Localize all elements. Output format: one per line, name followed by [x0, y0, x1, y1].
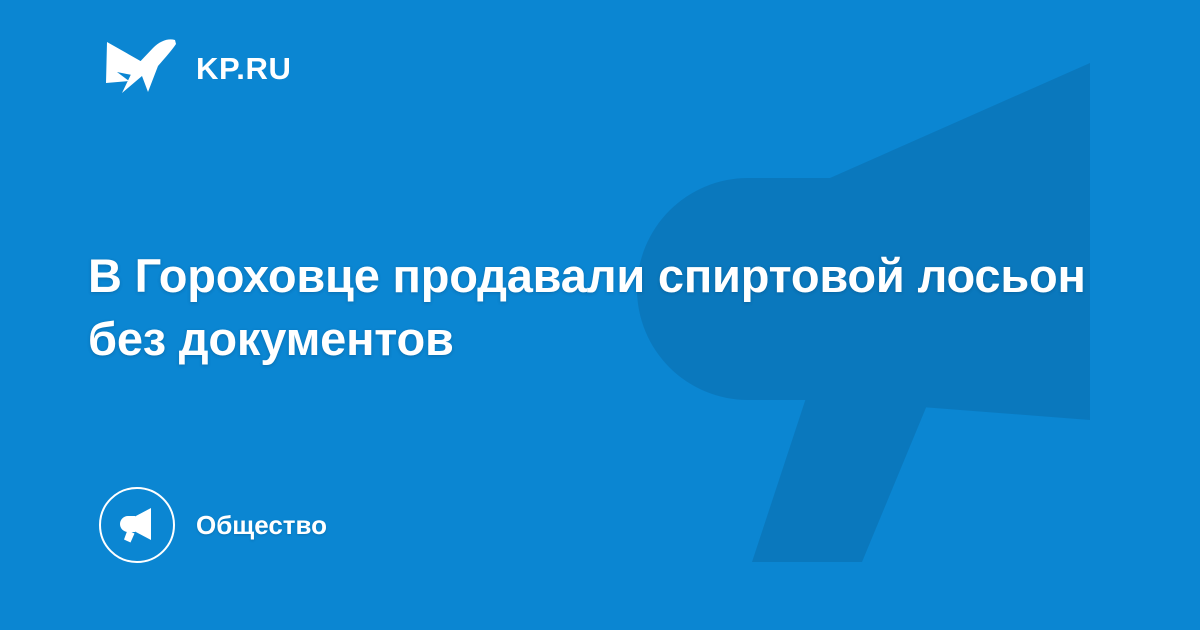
category-label: Общество: [196, 512, 327, 538]
category-badge[interactable]: Общество: [99, 487, 327, 563]
share-card: KP.RU В Гороховце продавали спиртовой ло…: [0, 0, 1200, 630]
megaphone-icon: [115, 503, 159, 547]
swallow-bird-icon: [104, 36, 178, 100]
category-icon-circle: [99, 487, 175, 563]
brand-name: KP.RU: [196, 53, 291, 84]
headline: В Гороховце продавали спиртовой лосьон б…: [88, 245, 1098, 371]
brand-header[interactable]: KP.RU: [104, 36, 291, 100]
